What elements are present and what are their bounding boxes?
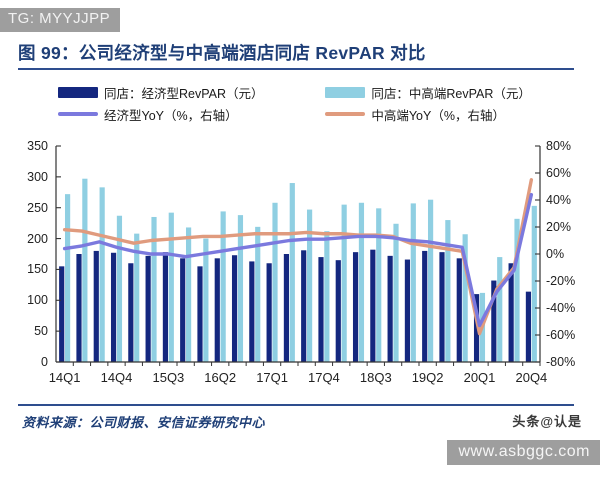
x-axis-tick: 20Q1	[457, 370, 503, 386]
x-axis-tick: 18Q3	[353, 370, 399, 386]
site-watermark: www.asbggc.com	[447, 440, 600, 465]
footer-divider	[18, 404, 574, 406]
legend-item-economy-yoy: 经济型YoY（%，右轴）	[40, 104, 315, 124]
x-axis-tick: 20Q4	[508, 370, 554, 386]
x-axis-tick: 19Q2	[405, 370, 451, 386]
x-axis-tick: 15Q3	[145, 370, 191, 386]
x-axis-tick: 14Q4	[94, 370, 140, 386]
legend-swatch-economy-yoy	[58, 112, 98, 116]
chart-legend: 同店：经济型RevPAR（元） 同店：中高端RevPAR（元） 经济型YoY（%…	[40, 80, 560, 130]
chart-plot-area: 050100150200250300350 -80%-60%-40%-20%0%…	[0, 140, 600, 395]
legend-item-midscale-yoy: 中高端YoY（%，右轴）	[315, 104, 560, 124]
source-note: 资料来源：公司财报、安信证券研究中心	[22, 412, 265, 431]
legend-swatch-midscale-revpar	[325, 87, 365, 98]
legend-swatch-midscale-yoy	[325, 112, 365, 116]
title-divider	[18, 68, 574, 70]
legend-item-economy-revpar: 同店：经济型RevPAR（元）	[40, 82, 315, 102]
legend-label-midscale-revpar: 同店：中高端RevPAR（元）	[371, 83, 531, 102]
legend-row-lines: 经济型YoY（%，右轴） 中高端YoY（%，右轴）	[40, 104, 560, 124]
legend-row-bars: 同店：经济型RevPAR（元） 同店：中高端RevPAR（元）	[40, 82, 560, 102]
tg-watermark: TG: MYYJJPP	[0, 8, 120, 32]
toutiao-watermark: 头条@认是	[512, 411, 582, 430]
x-axis-tick: 14Q1	[42, 370, 88, 386]
legend-label-midscale-yoy: 中高端YoY（%，右轴）	[371, 105, 505, 124]
legend-item-midscale-revpar: 同店：中高端RevPAR（元）	[315, 82, 560, 102]
legend-label-economy-yoy: 经济型YoY（%，右轴）	[104, 105, 238, 124]
legend-swatch-economy-revpar	[58, 87, 98, 98]
chart-title: 图 99：公司经济型与中高端酒店同店 RevPAR 对比	[18, 40, 586, 65]
x-axis-tick: 17Q4	[301, 370, 347, 386]
x-axis-tick: 16Q2	[197, 370, 243, 386]
legend-label-economy-revpar: 同店：经济型RevPAR（元）	[104, 83, 264, 102]
x-axis-tick: 17Q1	[249, 370, 295, 386]
chart-canvas	[0, 140, 600, 395]
